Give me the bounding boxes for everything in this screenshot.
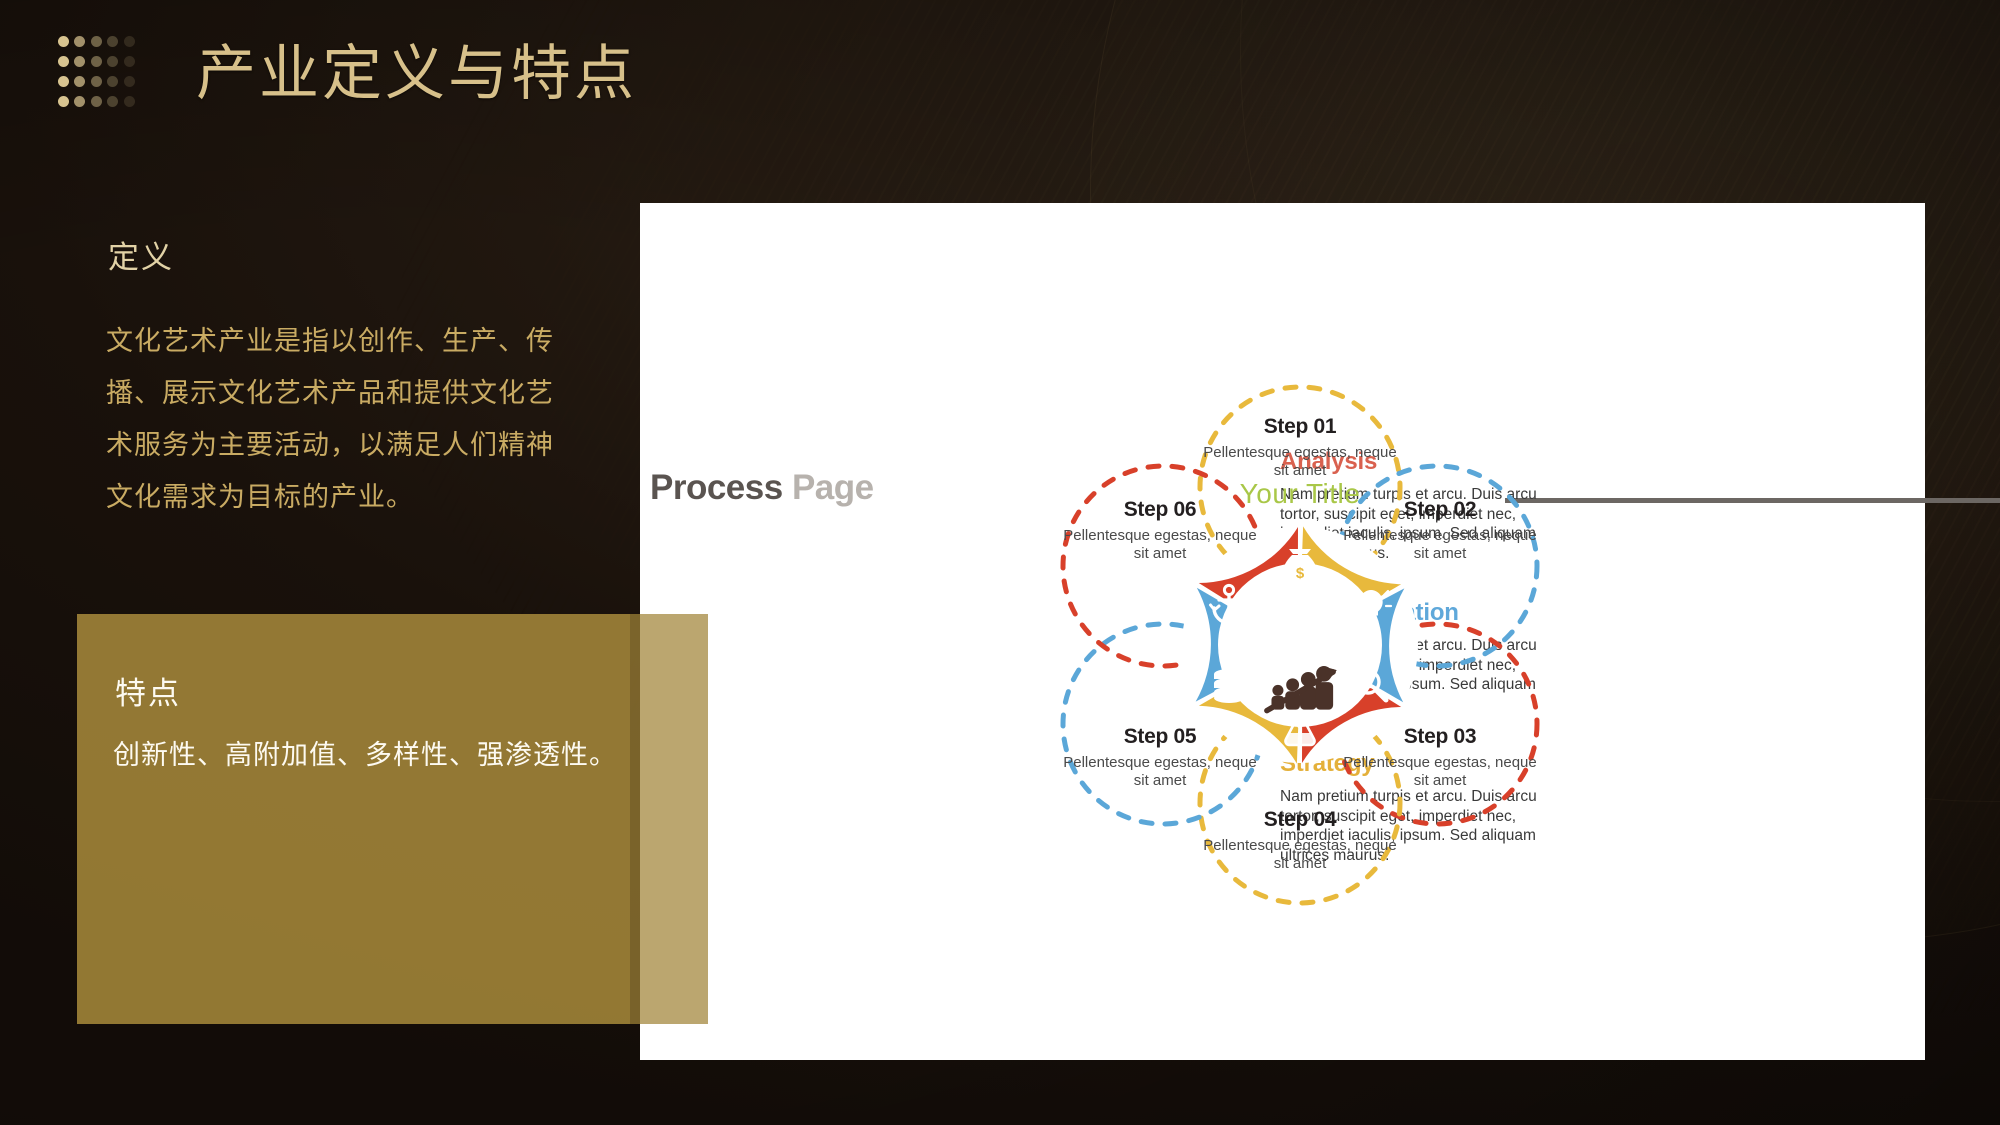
petal-label-step-02: Step 02 Pellentesque egestas, neque sit … bbox=[1340, 498, 1540, 562]
petal-desc: Pellentesque egestas, neque sit amet bbox=[1200, 837, 1400, 872]
petal-title: Step 06 bbox=[1060, 498, 1260, 522]
petal-label-step-01: Step 01 Pellentesque egestas, neque sit … bbox=[1200, 415, 1400, 479]
petal-title: Step 01 bbox=[1200, 415, 1400, 439]
petal-label-step-06: Step 06 Pellentesque egestas, neque sit … bbox=[1060, 498, 1260, 562]
dot-grid-decoration bbox=[58, 36, 136, 112]
petal-title: Step 05 bbox=[1060, 725, 1260, 749]
petal-title: Step 03 bbox=[1340, 725, 1540, 749]
features-heading: 特点 bbox=[115, 668, 181, 713]
petal-desc: Pellentesque egestas, neque sit amet bbox=[1060, 754, 1260, 789]
petal-label-step-03: Step 03 Pellentesque egestas, neque sit … bbox=[1340, 725, 1540, 789]
card-title-word-2: Page bbox=[792, 468, 874, 507]
features-body: 创新性、高附加值、多样性、强渗透性。 bbox=[113, 735, 673, 775]
petal-desc: Pellentesque egestas, neque sit amet bbox=[1340, 527, 1540, 562]
petal-desc: Pellentesque egestas, neque sit amet bbox=[1200, 444, 1400, 479]
features-panel-card-overlap bbox=[630, 614, 708, 1024]
petal-title: Step 02 bbox=[1340, 498, 1540, 522]
petal-desc: Pellentesque egestas, neque sit amet bbox=[1060, 527, 1260, 562]
process-wheel-diagram: $ bbox=[1000, 345, 1600, 945]
petal-label-step-05: Step 05 Pellentesque egestas, neque sit … bbox=[1060, 725, 1260, 789]
slide-root: 产业定义与特点 定义 文化艺术产业是指以创作、生产、传播、展示文化艺术产品和提供… bbox=[0, 0, 2000, 1125]
definition-heading: 定义 bbox=[108, 232, 174, 277]
petal-desc: Pellentesque egestas, neque sit amet bbox=[1340, 754, 1540, 789]
card-title-word-1: Process bbox=[650, 468, 783, 507]
petal-label-step-04: Step 04 Pellentesque egestas, neque sit … bbox=[1200, 808, 1400, 872]
petal-title: Step 04 bbox=[1200, 808, 1400, 832]
definition-body: 文化艺术产业是指以创作、生产、传播、展示文化艺术产品和提供文化艺术服务为主要活动… bbox=[106, 315, 576, 523]
database-icon bbox=[1214, 669, 1244, 703]
card-title: Process Page bbox=[650, 468, 874, 508]
page-title: 产业定义与特点 bbox=[196, 44, 637, 104]
